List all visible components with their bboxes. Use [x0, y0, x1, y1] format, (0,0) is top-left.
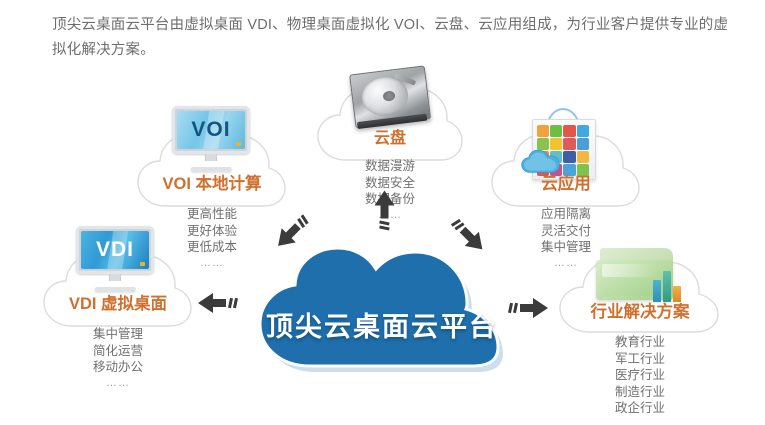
list-item: 集中管理	[36, 326, 200, 343]
monitor-vdi-icon: VDI	[76, 226, 154, 292]
monitor-voi-label: VOI	[191, 118, 230, 142]
list-item: 政企行业	[552, 400, 728, 417]
node-title-vdi: VDI 虚拟桌面	[36, 290, 200, 314]
list-ellipsis: ……	[552, 417, 728, 425]
diagram-canvas: 顶尖云桌面云平台由虚拟桌面 VDI、物理桌面虚拟化 VOI、云盘、云应用组成，为…	[0, 0, 765, 425]
node-clouddisk[interactable]: 云盘 数据漫游 数据安全 数据备份 ……	[310, 72, 470, 202]
arrow-left	[196, 290, 240, 321]
node-title-cloudapp: 云应用	[484, 170, 648, 194]
power-led-icon	[236, 142, 241, 146]
node-industry[interactable]: 行业解决方案 教育行业 军工行业 医疗行业 制造行业 政企行业 ……	[552, 248, 728, 416]
harddisk-icon	[349, 66, 429, 127]
intro-paragraph: 顶尖云桌面云平台由虚拟桌面 VDI、物理桌面虚拟化 VOI、云盘、云应用组成，为…	[52, 13, 742, 63]
list-item: 移动办公	[36, 359, 200, 376]
list-item: 制造行业	[552, 384, 728, 401]
node-title-voi: VOI 本地计算	[130, 170, 294, 194]
power-led-icon	[140, 262, 145, 266]
monitor-voi-icon: VOI	[172, 106, 250, 172]
node-vdi[interactable]: VDI VDI 虚拟桌面 集中管理 简化运营 移动办公 ……	[36, 242, 200, 392]
list-item: 医疗行业	[552, 367, 728, 384]
folder-chart-icon	[596, 244, 688, 306]
node-title-clouddisk: 云盘	[310, 124, 470, 148]
center-cloud-platform[interactable]: 顶尖云桌面云平台	[248, 243, 516, 373]
list-item: 数据漫游	[310, 158, 470, 175]
list-item: 灵活交付	[484, 223, 648, 240]
bar-chart-glyph	[651, 266, 688, 302]
list-item: 简化运营	[36, 343, 200, 360]
node-cloudapp[interactable]: 云应用 应用隔离 灵活交付 集中管理 ……	[484, 122, 648, 262]
list-item: 应用隔离	[484, 206, 648, 223]
monitor-vdi-label: VDI	[96, 238, 134, 262]
list-item: 军工行业	[552, 351, 728, 368]
node-list-vdi: 集中管理 简化运营 移动办公 ……	[36, 326, 200, 391]
list-ellipsis: ……	[36, 376, 200, 391]
center-cloud-label: 顶尖云桌面云平台	[248, 305, 516, 344]
node-list-industry: 教育行业 军工行业 医疗行业 制造行业 政企行业 ……	[552, 334, 728, 425]
arrow-right	[506, 290, 550, 321]
list-item: 更高性能	[130, 206, 294, 223]
arrow-up	[367, 189, 398, 233]
node-title-industry: 行业解决方案	[552, 298, 728, 322]
list-item: 教育行业	[552, 334, 728, 351]
